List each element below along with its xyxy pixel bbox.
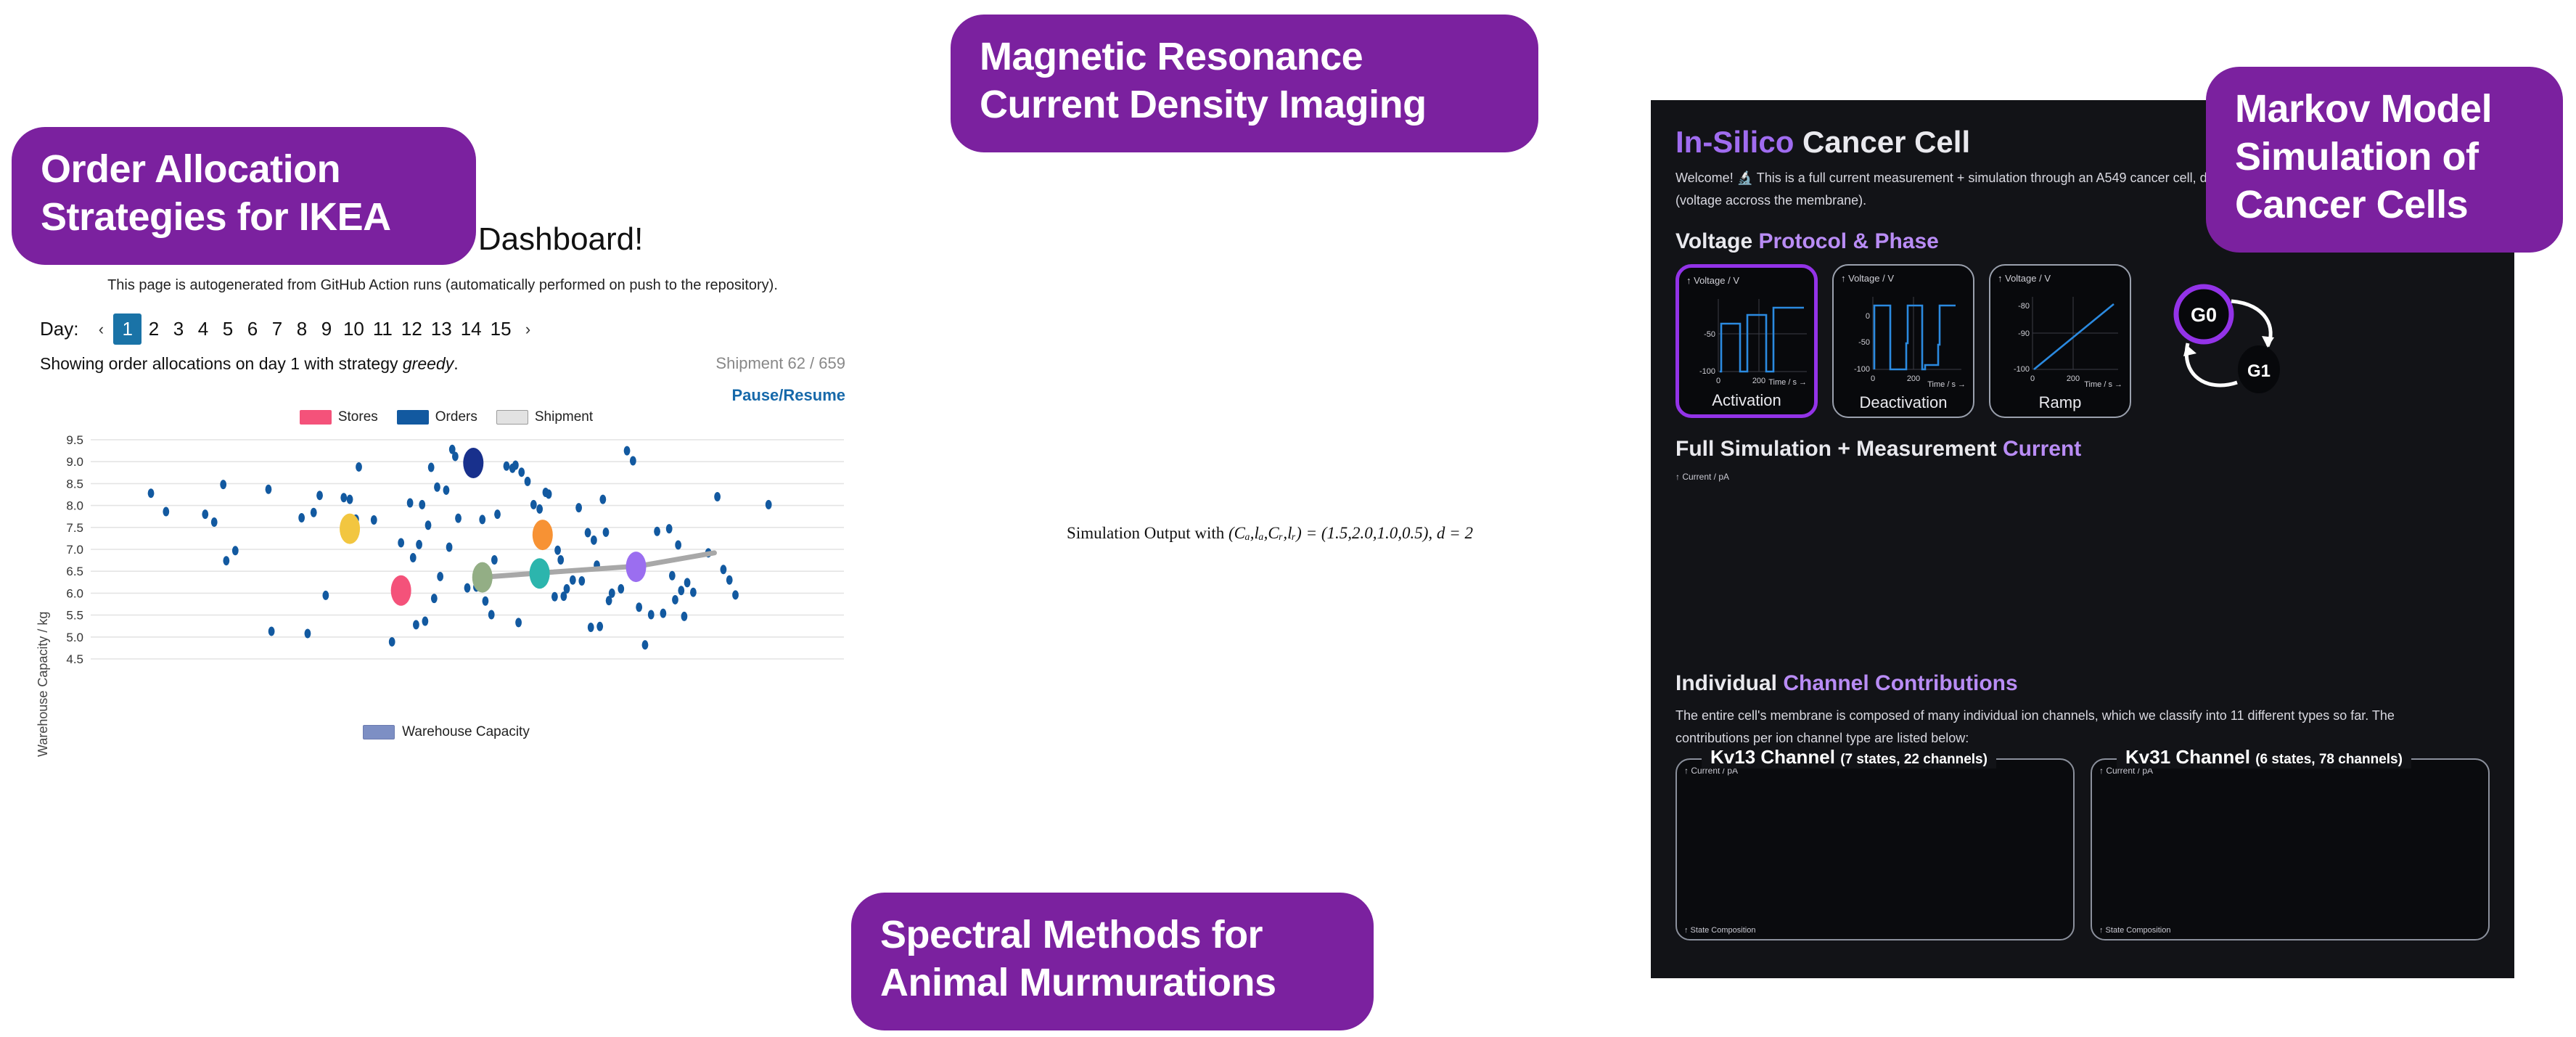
- pager: ‹ 1 2 3 4 5 6 7 8 9 10 11 12 13 14 15 ›: [89, 313, 540, 345]
- svg-text:6.0: 6.0: [66, 586, 83, 600]
- legend-item-orders[interactable]: Orders: [397, 409, 477, 425]
- capacity-swatch-icon: [363, 725, 395, 739]
- svg-text:5.0: 5.0: [66, 631, 83, 644]
- svg-text:0: 0: [1866, 312, 1870, 321]
- svg-text:7.0: 7.0: [66, 543, 83, 557]
- svg-text:8.0: 8.0: [66, 499, 83, 513]
- svg-text:0: 0: [2030, 374, 2035, 383]
- legend-label-stores: Stores: [338, 409, 378, 425]
- kv13-current-plot: [1684, 776, 2062, 921]
- protocol-time-deactivation: Time / s →: [1927, 380, 1966, 389]
- bar-legend: Warehouse Capacity: [40, 722, 853, 742]
- chan-heading-white: Individual: [1675, 671, 1783, 695]
- pager-page-1[interactable]: 1: [113, 313, 141, 345]
- arrowhead-g0-g1-icon: [2262, 336, 2274, 348]
- showing-suffix: .: [454, 354, 458, 373]
- svg-text:200: 200: [1752, 377, 1765, 385]
- svg-text:200: 200: [1907, 374, 1920, 383]
- pause-resume-button[interactable]: Pause/Resume: [731, 386, 845, 405]
- sim-title-params: (Cₐ,lₐ,Cᵣ,lᵣ) = (1.5,2.0,1.0,0.5),: [1228, 524, 1432, 542]
- pager-page-5[interactable]: 5: [216, 315, 240, 343]
- svg-text:-100: -100: [1699, 367, 1715, 376]
- badge-order-allocation: Order Allocation Strategies for IKEA: [12, 127, 476, 265]
- pager-next[interactable]: ›: [516, 317, 541, 342]
- bar-y-axis-label: Warehouse Capacity / kg: [36, 612, 51, 757]
- svg-text:6.5: 6.5: [66, 565, 83, 578]
- channel-title-kv31: Kv31 Channel (6 states, 78 channels): [2117, 746, 2411, 768]
- svg-text:4.5: 4.5: [66, 652, 83, 666]
- voltage-protocol-cards: ↑ Voltage / V -50 -100 0 200 Time / s → …: [1675, 264, 2490, 418]
- svg-text:0: 0: [1716, 377, 1720, 385]
- svg-text:-100: -100: [2014, 365, 2030, 374]
- pager-page-13[interactable]: 13: [427, 315, 456, 343]
- mrcdi-panel: Simulation Output with (Cₐ,lₐ,Cᵣ,lᵣ) = (…: [907, 0, 1633, 1037]
- shipment-counter: Shipment 62 / 659: [715, 354, 845, 373]
- day-pagination: Day: ‹ 1 2 3 4 5 6 7 8 9 10 11 12 13 14 …: [40, 313, 541, 345]
- transition-arrow-g1-g0: [2186, 343, 2237, 385]
- svg-text:200: 200: [2067, 374, 2080, 383]
- protocol-unit-activation: ↑ Voltage / V: [1686, 275, 1808, 286]
- state-label-g0: G0: [2191, 304, 2217, 326]
- channel-name-kv31: Kv31 Channel: [2125, 746, 2250, 768]
- pager-page-15[interactable]: 15: [486, 315, 516, 343]
- voltage-heading-white: Voltage: [1675, 229, 1758, 253]
- channel-meta-kv13: (7 states, 22 channels): [1840, 752, 1988, 767]
- svg-text:5.5: 5.5: [66, 609, 83, 623]
- legend-item-stores[interactable]: Stores: [300, 409, 378, 425]
- channel-title-kv13: Kv13 Channel (7 states, 22 channels): [1702, 746, 1996, 768]
- legend-label-capacity: Warehouse Capacity: [402, 724, 530, 740]
- pager-page-12[interactable]: 12: [397, 315, 427, 343]
- pager-page-10[interactable]: 10: [339, 315, 369, 343]
- pager-page-9[interactable]: 9: [314, 315, 339, 343]
- day-label: Day:: [40, 318, 78, 340]
- pager-page-3[interactable]: 3: [166, 315, 191, 343]
- badge-spectral-methods: Spectral Methods for Animal Murmurations: [851, 893, 1374, 1030]
- protocol-name-ramp: Ramp: [1990, 393, 2130, 412]
- simulation-section-heading: Full Simulation + Measurement Current: [1675, 437, 2490, 462]
- showing-strategy: greedy: [403, 354, 454, 373]
- scatter-chart: Stores Orders Shipment 4.55.05.56.06.57.…: [40, 406, 853, 697]
- pager-page-14[interactable]: 14: [456, 315, 486, 343]
- kv31-current-plot: [2099, 776, 2477, 921]
- sim-title-prefix: Simulation Output with: [1067, 524, 1228, 542]
- sim-heading-accent: Current: [2003, 437, 2081, 461]
- pager-page-6[interactable]: 6: [240, 315, 265, 343]
- protocol-card-deactivation[interactable]: ↑ Voltage / V 0 -50 -100 0 200 Time / s …: [1832, 264, 1974, 418]
- pager-page-8[interactable]: 8: [290, 315, 314, 343]
- protocol-unit-ramp: ↑ Voltage / V: [1998, 273, 2124, 284]
- chan-heading-accent: Channel Contributions: [1783, 671, 2017, 695]
- simulation-current-svg: [1675, 482, 2488, 649]
- showing-status: Showing order allocations on day 1 with …: [40, 354, 459, 374]
- channel-card-kv31[interactable]: Kv31 Channel (6 states, 78 channels) ↑ C…: [2091, 758, 2490, 940]
- showing-prefix: Showing order allocations on day 1 with …: [40, 354, 403, 373]
- pager-page-2[interactable]: 2: [141, 315, 166, 343]
- channel-paragraph-line-2: contributions per ion channel type are l…: [1675, 729, 2490, 748]
- svg-text:0: 0: [1871, 374, 1875, 383]
- protocol-unit-deactivation: ↑ Voltage / V: [1841, 273, 1967, 284]
- warehouse-capacity-chart: Warehouse Capacity / kg Warehouse Capaci…: [40, 722, 853, 882]
- pager-prev[interactable]: ‹: [89, 317, 113, 342]
- svg-text:-80: -80: [2018, 302, 2030, 311]
- kv31-state-composition-label: ↑ State Composition: [2099, 926, 2481, 935]
- channel-section-heading: Individual Channel Contributions: [1675, 671, 2490, 696]
- channel-name-kv13: Kv13 Channel: [1710, 746, 1835, 768]
- badge-mrcdi: Magnetic Resonance Current Density Imagi…: [951, 15, 1538, 152]
- protocol-card-ramp[interactable]: ↑ Voltage / V -80 -90 -100 0 200 Time / …: [1989, 264, 2131, 418]
- protocol-name-deactivation: Deactivation: [1834, 393, 1973, 412]
- pager-page-4[interactable]: 4: [191, 315, 216, 343]
- badge-markov-model: Markov Model Simulation of Cancer Cells: [2206, 67, 2563, 253]
- protocol-name-activation: Activation: [1679, 391, 1814, 410]
- full-simulation-chart: ↑ Current / pA: [1675, 472, 2490, 652]
- activation-waveform: -50 -100 0 200: [1686, 286, 1814, 388]
- page-subtitle: This page is autogenerated from GitHub A…: [0, 277, 885, 294]
- channel-paragraph-line-1: The entire cell's membrane is composed o…: [1675, 706, 2490, 726]
- stores-swatch-icon: [300, 410, 332, 425]
- protocol-card-activation[interactable]: ↑ Voltage / V -50 -100 0 200 Time / s → …: [1675, 264, 1818, 418]
- channel-card-kv13[interactable]: Kv13 Channel (7 states, 22 channels) ↑ C…: [1675, 758, 2075, 940]
- kv13-state-composition-label: ↑ State Composition: [1684, 926, 2066, 935]
- scatter-plot-svg: 4.55.05.56.06.57.07.58.08.59.09.5: [40, 433, 853, 694]
- cell-title-rest: Cancer Cell: [1794, 125, 1970, 159]
- svg-text:7.5: 7.5: [66, 521, 83, 535]
- screenshot-root: Order Allocation Dashboard! This page is…: [0, 0, 2576, 1037]
- channel-cards: Kv13 Channel (7 states, 22 channels) ↑ C…: [1675, 758, 2490, 940]
- sim-chart-ylabel: ↑ Current / pA: [1675, 472, 2490, 482]
- svg-text:-90: -90: [2018, 329, 2030, 338]
- cell-title-accent: In-Silico: [1675, 125, 1794, 159]
- channel-meta-kv31: (6 states, 78 channels): [2255, 752, 2403, 767]
- pager-page-7[interactable]: 7: [265, 315, 290, 343]
- svg-text:9.5: 9.5: [66, 433, 83, 447]
- scatter-legend: Stores Orders Shipment: [40, 406, 853, 428]
- legend-label-orders: Orders: [435, 409, 477, 425]
- sim-title-d: d = 2: [1437, 524, 1473, 542]
- legend-item-shipment[interactable]: Shipment: [496, 409, 593, 425]
- bar-plot-svg: [40, 742, 853, 880]
- deactivation-waveform: 0 -50 -100 0 200: [1841, 284, 1969, 385]
- protocol-time-ramp: Time / s →: [2084, 380, 2122, 389]
- sim-heading-white: Full Simulation + Measurement: [1675, 437, 2003, 461]
- svg-text:8.5: 8.5: [66, 477, 83, 491]
- pager-page-11[interactable]: 11: [369, 315, 397, 343]
- ramp-waveform: -80 -90 -100 0 200: [1998, 284, 2125, 385]
- markov-state-diagram: G0 G1: [2162, 272, 2285, 410]
- state-label-g1: G1: [2247, 361, 2271, 381]
- svg-text:9.0: 9.0: [66, 455, 83, 469]
- protocol-time-activation: Time / s →: [1768, 378, 1807, 387]
- svg-text:-50: -50: [1704, 330, 1715, 339]
- svg-text:-50: -50: [1858, 338, 1870, 347]
- murmuration-plot-title: Simulation Output with (Cₐ,lₐ,Cᵣ,lᵣ) = (…: [907, 524, 1633, 543]
- voltage-heading-accent: Protocol & Phase: [1758, 229, 1938, 253]
- legend-label-shipment: Shipment: [535, 409, 593, 425]
- shipment-swatch-icon: [496, 410, 528, 425]
- orders-swatch-icon: [397, 410, 429, 425]
- svg-text:-100: -100: [1854, 365, 1870, 374]
